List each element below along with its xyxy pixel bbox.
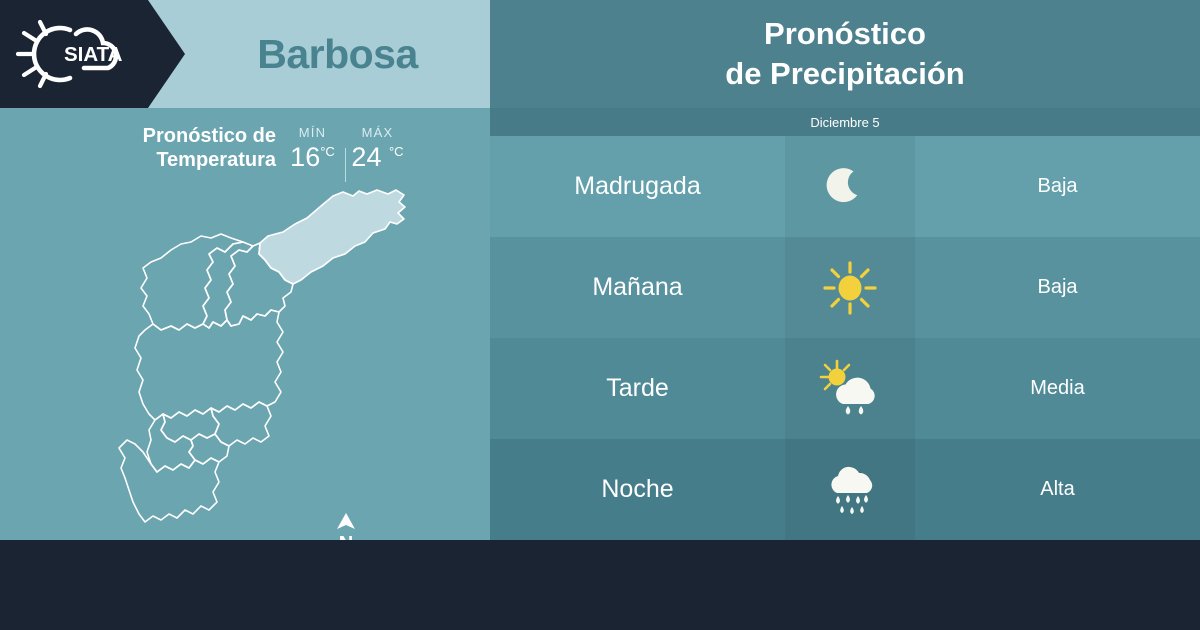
forecast-date: Diciembre 5 <box>810 115 879 130</box>
infographic-root: SIATA Barbosa Pronóstico de Temperatura … <box>0 0 1200 630</box>
min-value: 16 <box>290 142 320 172</box>
page-title: Barbosa <box>185 0 490 108</box>
table-row[interactable]: Madrugada Baja <box>490 136 1200 237</box>
table-row[interactable]: Tarde <box>490 338 1200 439</box>
period-label: Madrugada <box>574 172 700 201</box>
precipitation-title: Pronóstico de Precipitación <box>490 14 1200 93</box>
row-icon-cell <box>785 439 915 540</box>
row-level-cell: Baja <box>915 237 1200 338</box>
max-value: 24 <box>351 142 381 172</box>
precipitation-title-line1: Pronóstico <box>490 14 1200 54</box>
precipitation-title-line2: de Precipitación <box>490 54 1200 94</box>
temperature-min: MÍN 16°C <box>280 124 345 186</box>
map-region-barbosa <box>259 190 405 284</box>
min-value-group: 16°C <box>290 142 335 173</box>
map-svg <box>55 180 455 540</box>
temperature-title: Pronóstico de Temperatura <box>86 124 276 173</box>
table-row[interactable]: Mañana <box>490 237 1200 338</box>
map-region-copacabana <box>203 242 253 328</box>
row-icon-cell <box>785 136 915 237</box>
row-level-cell: Alta <box>915 439 1200 540</box>
forecast-rows: Madrugada Baja Mañana <box>490 136 1200 540</box>
crescent-moon-icon <box>822 159 878 215</box>
max-unit: °C <box>389 144 404 159</box>
temperature-title-line1: Pronóstico de <box>86 124 276 148</box>
sun-icon <box>821 259 879 317</box>
map-region-caldas <box>119 440 219 522</box>
level-label: Baja <box>1037 276 1077 299</box>
forecast-date-band: Diciembre 5 <box>490 108 1200 136</box>
city-name-text: Barbosa <box>257 31 418 78</box>
map-region-bello <box>141 234 243 330</box>
period-label: Mañana <box>592 273 682 302</box>
row-level-cell: Baja <box>915 136 1200 237</box>
siata-logo-text: SIATA <box>64 43 123 66</box>
temperature-minmax: MÍN 16°C MÁX 24 °C <box>280 124 410 186</box>
temperature-max: MÁX 24 °C <box>345 124 410 186</box>
valle-de-aburra-map: N <box>55 180 455 540</box>
max-label: MÁX <box>362 124 394 142</box>
min-label: MÍN <box>299 124 326 142</box>
level-label: Alta <box>1040 478 1074 501</box>
table-row[interactable]: Noche <box>490 439 1200 540</box>
map-region-la-estrella <box>147 414 195 472</box>
temperature-title-line2: Temperatura <box>86 148 276 172</box>
min-unit: °C <box>320 144 335 159</box>
row-icon-cell <box>785 338 915 439</box>
sun-cloud-rain-icon <box>817 359 883 419</box>
north-arrow-icon <box>332 512 360 530</box>
period-label: Noche <box>601 475 673 504</box>
minmax-divider <box>345 148 346 182</box>
sun-cloud-icon: SIATA <box>14 14 142 94</box>
siata-logo-banner: SIATA <box>0 0 185 108</box>
row-period-cell: Noche <box>490 439 785 540</box>
precipitation-panel: Pronóstico de Precipitación Diciembre 5 … <box>490 0 1200 540</box>
level-label: Baja <box>1037 175 1077 198</box>
max-value-group: 24 °C <box>351 142 403 173</box>
level-label: Media <box>1030 377 1084 400</box>
row-period-cell: Tarde <box>490 338 785 439</box>
period-label: Tarde <box>606 374 669 403</box>
cloud-heavy-rain-icon <box>819 459 881 521</box>
row-period-cell: Madrugada <box>490 136 785 237</box>
footer: @siatamedellin www.siata.gov.co Con el a… <box>0 540 1200 630</box>
row-icon-cell <box>785 237 915 338</box>
row-level-cell: Media <box>915 338 1200 439</box>
row-period-cell: Mañana <box>490 237 785 338</box>
